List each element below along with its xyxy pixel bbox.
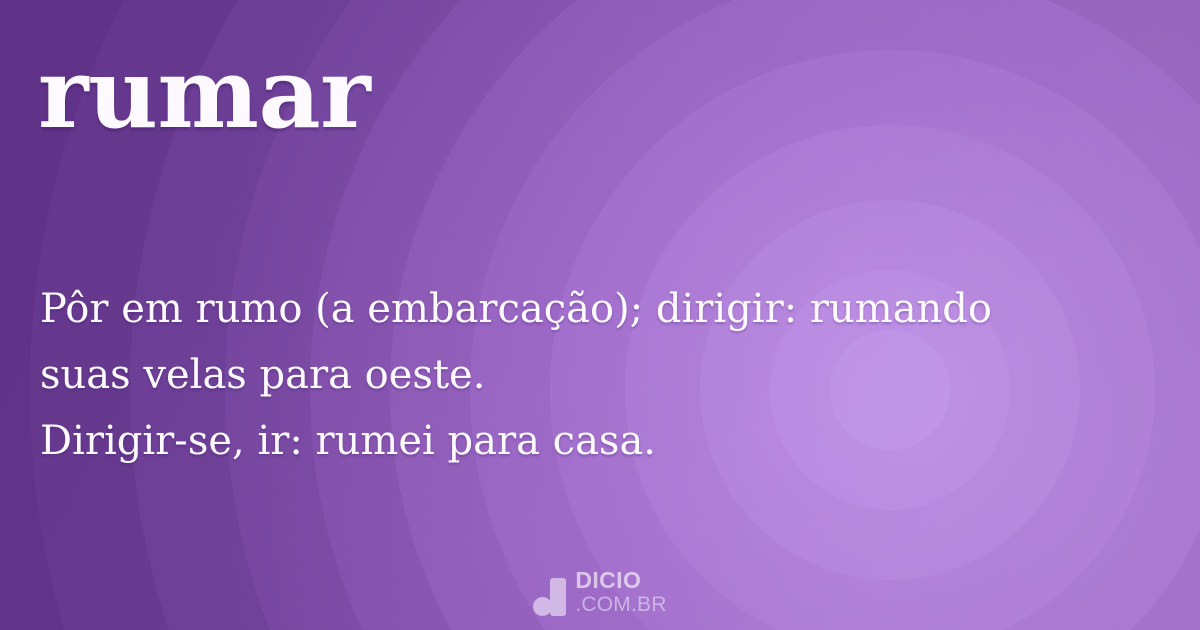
dictionary-share-card: rumar Pôr em rumo (a embarcação); dirigi… (0, 0, 1200, 630)
definition-line: suas velas para oeste. (40, 342, 1150, 408)
card-content: rumar Pôr em rumo (a embarcação); dirigi… (0, 0, 1200, 630)
definition-line: Pôr em rumo (a embarcação); dirigir: rum… (40, 276, 1150, 342)
definition-line: Dirigir-se, ir: rumei para casa. (40, 408, 1150, 474)
brand-domain: .COM.BR (575, 594, 666, 615)
brand-name: DICIO (575, 569, 666, 592)
definition-block: Pôr em rumo (a embarcação); dirigir: rum… (40, 276, 1150, 474)
bar-icon (550, 578, 566, 616)
dicio-logo: DICIO .COM.BR (0, 569, 1200, 616)
word-title: rumar (38, 44, 370, 145)
dicio-logo-text: DICIO .COM.BR (575, 569, 666, 616)
dicio-logo-mark (533, 576, 566, 616)
